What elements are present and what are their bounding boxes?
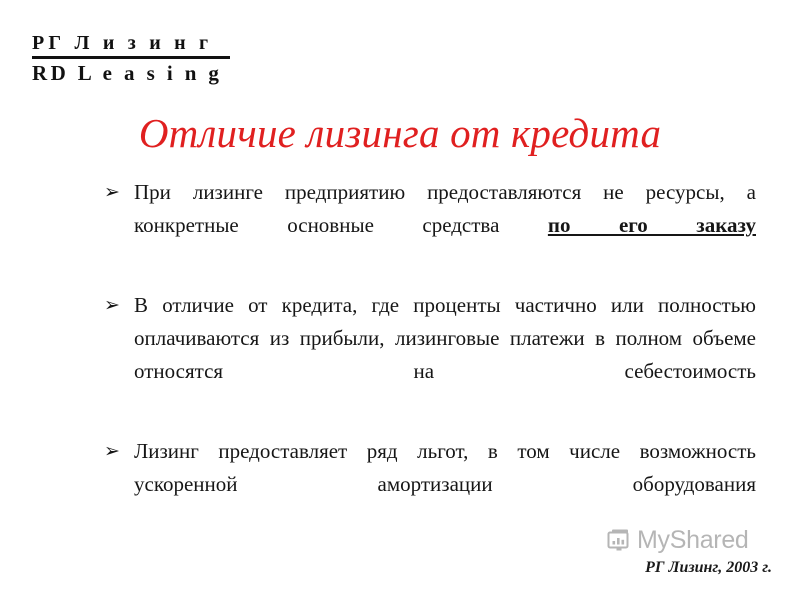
presentation-chart-icon [606, 527, 632, 553]
company-logo: РГ Л и з и н г RD L e a s i n g [32, 32, 237, 85]
logo-divider-rule [32, 56, 230, 59]
logo-line-english: RD L e a s i n g [32, 61, 237, 85]
bullet-list: ➢ При лизинге предприятию предоставляютс… [104, 176, 756, 534]
bullet-arrow-icon: ➢ [104, 176, 120, 209]
bullet-text-emphasis: по его заказу [548, 213, 756, 237]
watermark-label: MyShared [637, 527, 749, 553]
bullet-item: ➢ При лизинге предприятию предоставляютс… [104, 176, 756, 275]
bullet-text: В отличие от кредита, где проценты части… [134, 289, 756, 421]
bullet-text-segment: В отличие от кредита, где проценты части… [134, 293, 756, 383]
myshared-watermark: MyShared [606, 527, 749, 553]
bullet-text: Лизинг предоставляет ряд льгот, в том чи… [134, 435, 756, 534]
bullet-text: При лизинге предприятию предоставляются … [134, 176, 756, 275]
bullet-item: ➢ Лизинг предоставляет ряд льгот, в том … [104, 435, 756, 534]
slide-footer: РГ Лизинг, 2003 г. [645, 558, 772, 578]
bullet-text-segment: Лизинг предоставляет ряд льгот, в том чи… [134, 439, 756, 496]
logo-line-russian: РГ Л и з и н г [32, 32, 237, 55]
bullet-arrow-icon: ➢ [104, 435, 120, 468]
presentation-slide: РГ Л и з и н г RD L e a s i n g Отличие … [0, 0, 800, 600]
slide-title: Отличие лизинга от кредита [0, 108, 800, 158]
bullet-arrow-icon: ➢ [104, 289, 120, 322]
bullet-item: ➢ В отличие от кредита, где проценты час… [104, 289, 756, 421]
